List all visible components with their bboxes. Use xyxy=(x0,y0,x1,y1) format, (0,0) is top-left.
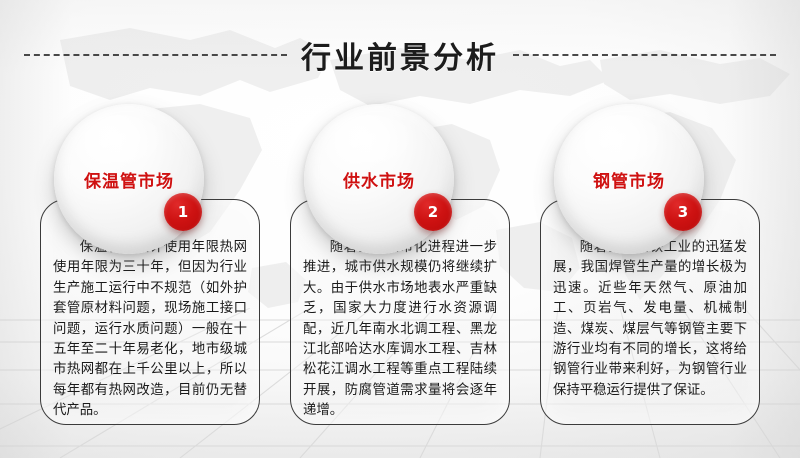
orb-container[interactable]: 钢管市场 xyxy=(554,104,704,254)
orb-label: 保温管市场 xyxy=(54,104,204,254)
orb-label: 钢管市场 xyxy=(554,104,704,254)
orb-container[interactable]: 保温管市场 xyxy=(54,104,204,254)
orb-label: 供水市场 xyxy=(304,104,454,254)
card-body-text: 保温管按设计使用年限热网使用年限为三十年，但因为行业生产施工运行中不规范（如外护… xyxy=(53,238,247,421)
card-body-text: 随着我国城市化进程进一步推进，城市供水规模仍将继续扩大。由于供水市场地表水严重缺… xyxy=(303,238,497,421)
page-title: 行业前景分析 xyxy=(301,33,499,77)
orb-container[interactable]: 供水市场 xyxy=(304,104,454,254)
slide-header: 行业前景分析 xyxy=(0,34,800,76)
column-item[interactable]: 随着我国城市化进程进一步推进，城市供水规模仍将继续扩大。由于供水市场地表水严重缺… xyxy=(278,104,522,434)
step-badge: 1 xyxy=(164,193,202,231)
header-rule-right xyxy=(513,54,776,56)
step-badge: 2 xyxy=(414,193,452,231)
column-item[interactable]: 随着我国钢铁工业的迅猛发展，我国焊管生产量的增长极为迅速。近些年天然气、原油加工… xyxy=(528,104,772,434)
header-rule-left xyxy=(24,54,287,56)
column-item[interactable]: 保温管按设计使用年限热网使用年限为三十年，但因为行业生产施工运行中不规范（如外护… xyxy=(28,104,272,434)
columns-container: 保温管按设计使用年限热网使用年限为三十年，但因为行业生产施工运行中不规范（如外护… xyxy=(0,104,800,434)
card-body-text: 随着我国钢铁工业的迅猛发展，我国焊管生产量的增长极为迅速。近些年天然气、原油加工… xyxy=(553,238,747,401)
step-badge: 3 xyxy=(664,193,702,231)
slide-canvas: 行业前景分析 保温管按设计使用年限热网使用年限为三十年，但因为行业生产施工运行中… xyxy=(0,0,800,458)
